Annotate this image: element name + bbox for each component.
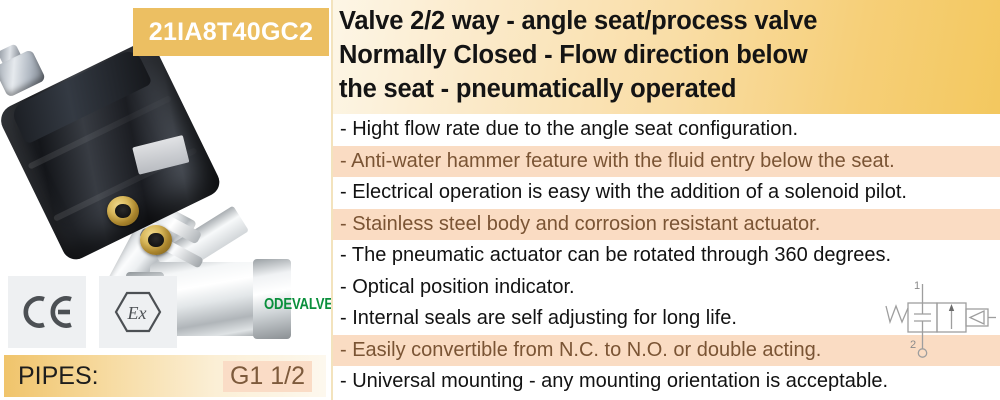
feature-text: - The pneumatic actuator can be rotated … [340, 244, 891, 267]
feature-text: - Stainless steel body and corrosion res… [340, 213, 820, 236]
ce-icon [20, 295, 74, 329]
feature-row: - The pneumatic actuator can be rotated … [333, 240, 1000, 272]
brass-air-port [140, 225, 172, 255]
title-line-1: Valve 2/2 way - angle seat/process valve [339, 4, 1000, 38]
actuator-nameplate [132, 135, 189, 175]
product-photo: 21IA8T40GC2 Εx [0, 0, 331, 352]
feature-row: - Anti-water hammer feature with the flu… [333, 146, 1000, 178]
schematic-port-1-label: 1 [914, 280, 920, 292]
atex-ex-icon: Εx [113, 290, 163, 334]
watermark-main: ODEVALVE [264, 296, 331, 313]
site-watermark: ODEVALVE.VN [264, 296, 331, 314]
feature-text: - Electrical operation is easy with the … [340, 181, 907, 204]
product-spec-sheet: 21IA8T40GC2 Εx [0, 0, 1000, 400]
feature-row: - Hight flow rate due to the angle seat … [333, 114, 1000, 146]
title-line-2: Normally Closed - Flow direction below [339, 38, 1000, 72]
feature-text: - Hight flow rate due to the angle seat … [340, 118, 798, 141]
svg-text:Εx: Εx [127, 303, 147, 323]
pipes-label: PIPES: [18, 362, 99, 391]
feature-text: - Internal seals are self adjusting for … [340, 307, 737, 330]
feature-text: - Universal mounting - any mounting orie… [340, 370, 888, 393]
pneumatic-valve-symbol: 1 2 [878, 276, 996, 362]
product-title: Valve 2/2 way - angle seat/process valve… [333, 0, 1000, 114]
feature-row: - Electrical operation is easy with the … [333, 177, 1000, 209]
left-panel: 21IA8T40GC2 Εx [0, 0, 331, 400]
certification-marks: Εx [8, 276, 177, 348]
feature-text: - Anti-water hammer feature with the flu… [340, 150, 895, 173]
pipes-bar: PIPES: G1 1/2 [4, 355, 326, 397]
ce-mark-box [8, 276, 86, 348]
feature-row: - Stainless steel body and corrosion res… [333, 209, 1000, 241]
schematic-port-2-label: 2 [910, 339, 916, 351]
atex-mark-box: Εx [99, 276, 177, 348]
feature-text: - Easily convertible from N.C. to N.O. o… [340, 339, 821, 362]
pipes-value: G1 1/2 [223, 361, 312, 392]
brass-air-port [107, 196, 139, 226]
title-line-3: the seat - pneumatically operated [339, 72, 1000, 106]
product-code-badge: 21IA8T40GC2 [133, 8, 329, 56]
product-code-text: 21IA8T40GC2 [149, 18, 314, 47]
feature-row: - Universal mounting - any mounting orie… [333, 366, 1000, 398]
feature-text: - Optical position indicator. [340, 276, 575, 299]
